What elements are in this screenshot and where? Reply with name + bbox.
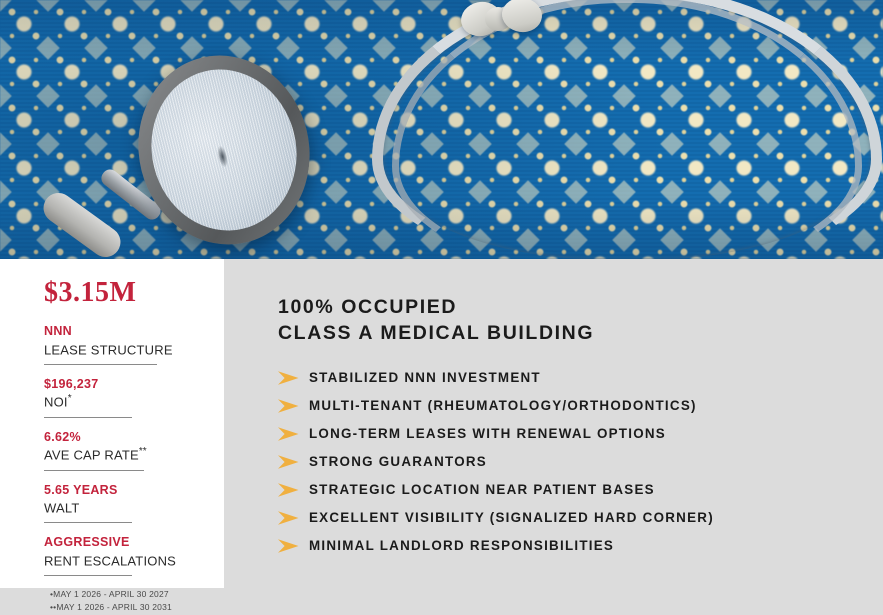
arrow-right-icon: [278, 538, 300, 554]
stat-label-text: WALT: [44, 500, 79, 515]
arrow-right-icon: [278, 454, 300, 470]
stat-value: 5.65 YEARS: [44, 483, 224, 499]
list-item: LONG-TERM LEASES WITH RENEWAL OPTIONS: [278, 425, 883, 444]
features-title-line-1: 100% OCCUPIED: [278, 295, 883, 321]
stat-label-text: AVE CAP RATE: [44, 448, 139, 463]
stat-label-text: LEASE STRUCTURE: [44, 342, 173, 357]
stat-label-marks: **: [139, 446, 147, 457]
stat-noi: $196,237 NOI*: [44, 377, 224, 418]
stat-value: NNN: [44, 324, 224, 340]
list-item-label: MULTI-TENANT (RHEUMATOLOGY/ORTHODONTICS): [309, 398, 697, 414]
list-item: STABILIZED NNN INVESTMENT: [278, 369, 883, 388]
stat-value: $196,237: [44, 377, 224, 393]
stat-label-marks: *: [68, 393, 72, 404]
arrow-right-icon: [278, 482, 300, 498]
list-item: STRATEGIC LOCATION NEAR PATIENT BASES: [278, 481, 883, 500]
list-item-label: STRONG GUARANTORS: [309, 454, 487, 470]
arrow-right-icon: [278, 426, 300, 442]
list-item: STRONG GUARANTORS: [278, 453, 883, 472]
stat-lease-structure: NNN LEASE STRUCTURE: [44, 324, 224, 365]
stat-value: 6.62%: [44, 430, 224, 446]
stat-rent-escalations: AGGRESSIVE RENT ESCALATIONS: [44, 535, 224, 576]
stat-label: NOI*: [44, 392, 72, 414]
list-item: MINIMAL LANDLORD RESPONSIBILITIES: [278, 537, 883, 556]
arrow-right-icon: [278, 370, 300, 386]
stat-underline: [44, 575, 132, 576]
footnote-single-asterisk: •MAY 1 2026 - APRIL 30 2027: [50, 588, 224, 601]
stat-label-text: NOI: [44, 395, 68, 410]
features-panel: 100% OCCUPIED CLASS A MEDICAL BUILDING S…: [224, 259, 883, 588]
list-item: MULTI-TENANT (RHEUMATOLOGY/ORTHODONTICS): [278, 397, 883, 416]
features-title: 100% OCCUPIED CLASS A MEDICAL BUILDING: [278, 295, 883, 347]
features-list: STABILIZED NNN INVESTMENT MULTI-TENANT (…: [278, 369, 883, 556]
stat-underline: [44, 417, 132, 418]
headline-price: $3.15M: [44, 279, 224, 307]
footnotes: •MAY 1 2026 - APRIL 30 2027 ••MAY 1 2026…: [44, 588, 224, 614]
list-item-label: STRATEGIC LOCATION NEAR PATIENT BASES: [309, 482, 655, 498]
stat-underline: [44, 470, 144, 471]
stat-label: LEASE STRUCTURE: [44, 340, 173, 362]
stat-label-text: RENT ESCALATIONS: [44, 553, 176, 568]
stat-label: WALT: [44, 498, 79, 520]
hero-photo: [0, 0, 883, 259]
list-item-label: STABILIZED NNN INVESTMENT: [309, 370, 541, 386]
features-title-line-2: CLASS A MEDICAL BUILDING: [278, 321, 883, 347]
list-item: EXCELLENT VISIBILITY (SIGNALIZED HARD CO…: [278, 509, 883, 528]
stat-ave-cap-rate: 6.62% AVE CAP RATE**: [44, 430, 224, 471]
list-item-label: LONG-TERM LEASES WITH RENEWAL OPTIONS: [309, 426, 666, 442]
list-item-label: MINIMAL LANDLORD RESPONSIBILITIES: [309, 538, 614, 554]
stat-label: AVE CAP RATE**: [44, 445, 147, 467]
stat-value: AGGRESSIVE: [44, 535, 224, 551]
stat-underline: [44, 522, 132, 523]
arrow-right-icon: [278, 510, 300, 526]
footnote-double-asterisk: ••MAY 1 2026 - APRIL 30 2031: [50, 601, 224, 614]
arrow-right-icon: [278, 398, 300, 414]
deal-stats-panel: $3.15M NNN LEASE STRUCTURE $196,237 NOI*…: [0, 259, 224, 588]
stat-walt: 5.65 YEARS WALT: [44, 483, 224, 524]
stat-underline: [44, 364, 157, 365]
list-item-label: EXCELLENT VISIBILITY (SIGNALIZED HARD CO…: [309, 510, 714, 526]
stat-label: RENT ESCALATIONS: [44, 551, 176, 573]
